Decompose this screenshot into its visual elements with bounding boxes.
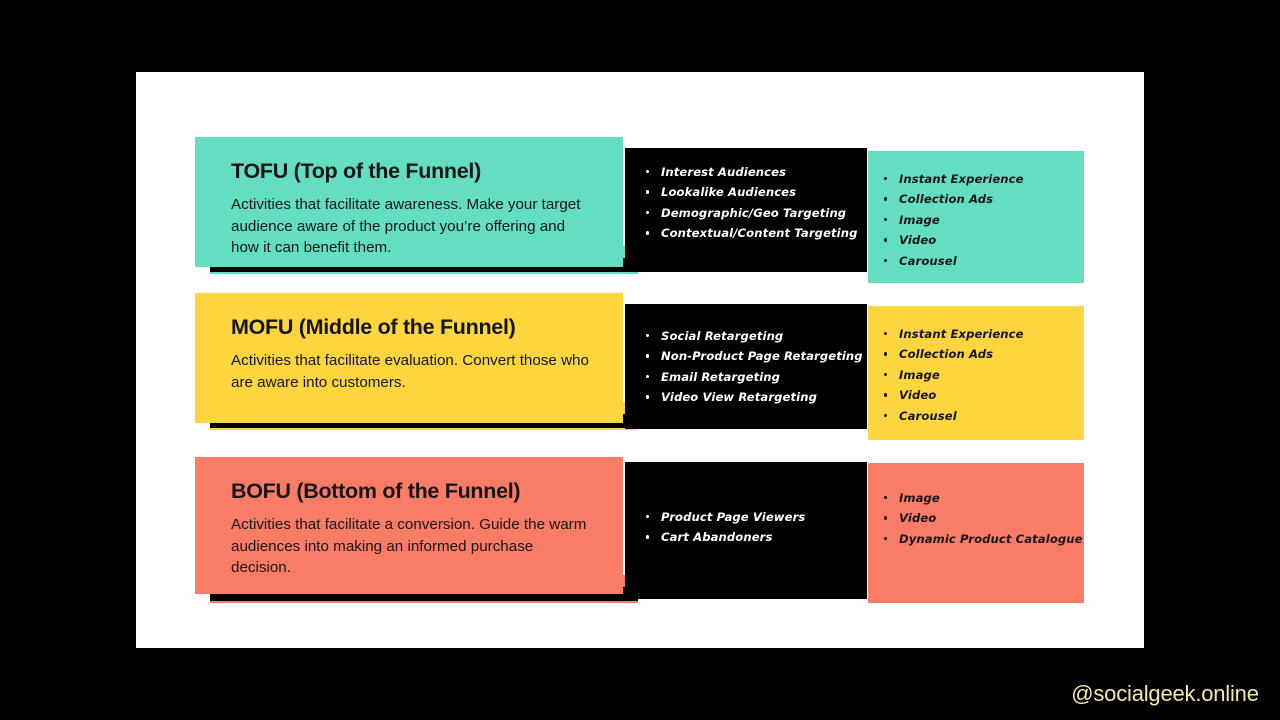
- tofu-audiences-wrap: Interest Audiences Lookalike Audiences D…: [644, 162, 858, 244]
- tofu-audiences-panel: Interest Audiences Lookalike Audiences D…: [625, 148, 867, 272]
- list-item: Lookalike Audiences: [644, 182, 858, 202]
- list-item: Dynamic Product Catalogue: [882, 529, 1083, 549]
- tofu-description: Activities that facilitate awareness. Ma…: [231, 194, 593, 259]
- mofu-title: MOFU (Middle of the Funnel): [231, 315, 593, 340]
- bofu-stage-card: BOFU (Bottom of the Funnel) Activities t…: [195, 457, 623, 594]
- bofu-audiences-wrap: Product Page Viewers Cart Abandoners: [644, 507, 805, 548]
- list-item: Instant Experience: [882, 324, 1024, 344]
- mofu-formats-list: Instant Experience Collection Ads Image …: [882, 324, 1024, 426]
- list-item: Carousel: [882, 251, 1024, 271]
- bofu-description: Activities that facilitate a conversion.…: [231, 514, 593, 579]
- mofu-audiences-panel: Social Retargeting Non-Product Page Reta…: [625, 304, 867, 429]
- list-item: Product Page Viewers: [644, 507, 805, 527]
- tofu-formats-wrap: Instant Experience Collection Ads Image …: [882, 169, 1024, 271]
- bofu-formats-panel: Image Video Dynamic Product Catalogue: [868, 463, 1084, 603]
- list-item: Email Retargeting: [644, 367, 863, 387]
- bofu-audiences-panel: Product Page Viewers Cart Abandoners: [625, 462, 867, 599]
- list-item: Video: [882, 508, 1083, 528]
- tofu-formats-panel: Instant Experience Collection Ads Image …: [868, 151, 1084, 283]
- mofu-audiences-list: Social Retargeting Non-Product Page Reta…: [644, 326, 863, 408]
- tofu-audiences-list: Interest Audiences Lookalike Audiences D…: [644, 162, 858, 244]
- tofu-title: TOFU (Top of the Funnel): [231, 159, 593, 184]
- list-item: Image: [882, 210, 1024, 230]
- mofu-formats-panel: Instant Experience Collection Ads Image …: [868, 306, 1084, 440]
- bofu-formats-wrap: Image Video Dynamic Product Catalogue: [882, 488, 1083, 549]
- list-item: Video: [882, 230, 1024, 250]
- list-item: Non-Product Page Retargeting: [644, 346, 863, 366]
- mofu-stage-card: MOFU (Middle of the Funnel) Activities t…: [195, 293, 623, 423]
- list-item: Image: [882, 365, 1024, 385]
- list-item: Collection Ads: [882, 344, 1024, 364]
- list-item: Demographic/Geo Targeting: [644, 203, 858, 223]
- list-item: Video: [882, 385, 1024, 405]
- watermark-socialgeek: @socialgeek.online: [1058, 679, 1272, 709]
- mofu-formats-wrap: Instant Experience Collection Ads Image …: [882, 324, 1024, 426]
- bofu-title: BOFU (Bottom of the Funnel): [231, 479, 593, 504]
- list-item: Interest Audiences: [644, 162, 858, 182]
- list-item: Social Retargeting: [644, 326, 863, 346]
- list-item: Image: [882, 488, 1083, 508]
- slide-canvas: TOFU (Top of the Funnel) Activities that…: [136, 72, 1144, 648]
- list-item: Video View Retargeting: [644, 387, 863, 407]
- bofu-formats-list: Image Video Dynamic Product Catalogue: [882, 488, 1083, 549]
- bofu-audiences-list: Product Page Viewers Cart Abandoners: [644, 507, 805, 548]
- tofu-formats-list: Instant Experience Collection Ads Image …: [882, 169, 1024, 271]
- list-item: Cart Abandoners: [644, 527, 805, 547]
- list-item: Collection Ads: [882, 189, 1024, 209]
- list-item: Carousel: [882, 406, 1024, 426]
- mofu-description: Activities that facilitate evaluation. C…: [231, 350, 593, 393]
- list-item: Contextual/Content Targeting: [644, 223, 858, 243]
- mofu-audiences-wrap: Social Retargeting Non-Product Page Reta…: [644, 326, 863, 408]
- tofu-stage-card: TOFU (Top of the Funnel) Activities that…: [195, 137, 623, 267]
- list-item: Instant Experience: [882, 169, 1024, 189]
